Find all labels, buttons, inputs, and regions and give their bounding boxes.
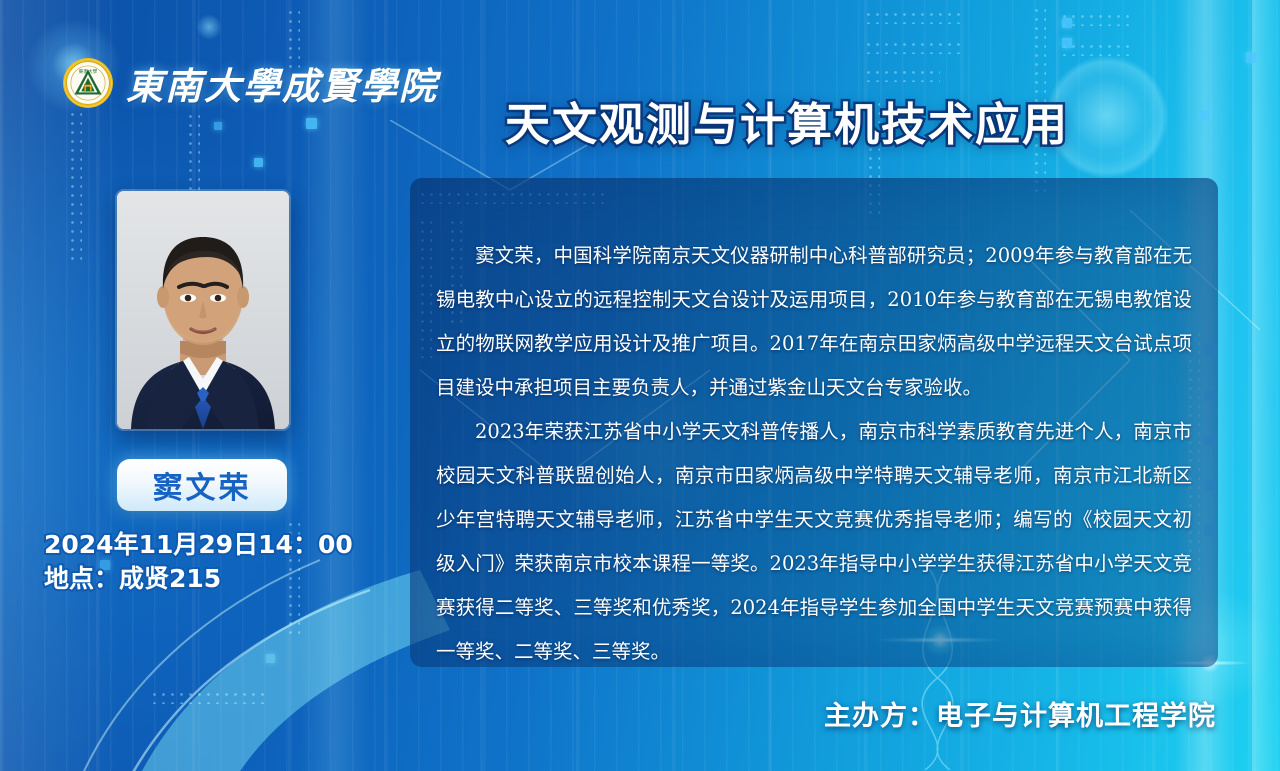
circuit-dots-e	[864, 10, 964, 24]
accent-square-13	[266, 654, 275, 663]
accent-square-1	[306, 118, 317, 129]
background-band-left	[0, 0, 120, 771]
accent-square-2	[254, 158, 263, 167]
logo-wordmark: 東南大學成賢學院	[126, 56, 438, 110]
organizer-line: 主办方：电子与计算机工程学院	[824, 694, 1216, 733]
accent-square-14	[1246, 52, 1257, 63]
circuit-dots-p	[150, 690, 270, 704]
speaker-name: 窦文荣	[153, 463, 252, 507]
bio-paragraph-1: 窦文荣，中国科学院南京天文仪器研制中心科普部研究员；2009年参与教育部在无锡电…	[436, 234, 1192, 410]
circuit-dots-f	[864, 40, 964, 54]
circuit-dots-k	[1060, 42, 1130, 56]
circuit-dots-j	[1060, 12, 1130, 26]
brand-logo: 東南大學 東南大學成賢學院	[62, 56, 438, 110]
speaker-portrait	[117, 191, 289, 429]
event-meta: 2024年11月29日14：00 地点：成贤215	[44, 528, 384, 596]
page-title: 天文观测与计算机技术应用	[505, 88, 1145, 153]
accent-square-5	[1062, 18, 1072, 28]
event-datetime: 2024年11月29日14：00	[44, 528, 384, 562]
university-seal-icon: 東南大學	[62, 57, 114, 109]
circuit-dots-g	[864, 68, 940, 82]
event-poster: 東南大學 東南大學成賢學院 天文观测与计算机技术应用	[0, 0, 1280, 771]
accent-square-6	[1062, 38, 1072, 48]
event-location: 地点：成贤215	[44, 562, 384, 596]
speaker-bio-panel: 窦文荣，中国科学院南京天文仪器研制中心科普部研究员；2009年参与教育部在无锡电…	[410, 178, 1218, 667]
background-band-mid	[300, 0, 370, 771]
accent-square-7	[1200, 110, 1210, 120]
bio-paragraph-2: 2023年荣获江苏省中小学天文科普传播人，南京市科学素质教育先进个人，南京市校园…	[436, 410, 1192, 674]
circuit-dots-b	[186, 112, 200, 190]
circuit-dots-a	[68, 110, 82, 260]
speaker-portrait-photo	[117, 191, 289, 429]
speaker-name-badge: 窦文荣	[117, 459, 287, 511]
accent-square-3	[214, 122, 222, 130]
halo-ring-topmid	[196, 14, 222, 40]
background-band-right2	[1252, 0, 1280, 771]
